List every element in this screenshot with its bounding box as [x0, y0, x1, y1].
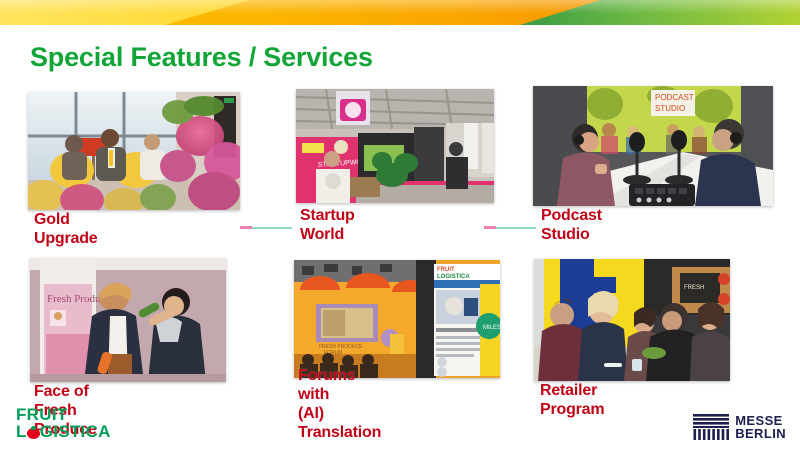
photo-startup-world: STARTUPWORLD	[296, 89, 494, 203]
feature-label-podcast-studio: Podcast Studio	[541, 206, 602, 244]
logistica-suffix: GISTICA	[40, 422, 111, 441]
svg-text:LOGISTICA: LOGISTICA	[437, 274, 470, 280]
divider-row1-right	[484, 226, 536, 229]
svg-text:FRUIT: FRUIT	[437, 267, 455, 273]
feature-label-forums-translation: Forums with (AI) Translation	[298, 366, 381, 442]
messe-berlin-logo: MESSE BERLIN	[693, 414, 786, 440]
divider-pink-segment	[484, 226, 496, 229]
svg-text:MILES: MILES	[483, 325, 500, 331]
photo-podcast-studio: PODCAST STUDIO	[533, 86, 773, 206]
top-gradient-banner	[0, 0, 800, 25]
fruit-logistica-line2: LGISTICA	[16, 423, 111, 440]
page-title: Special Features / Services	[30, 42, 373, 73]
feature-label-startup-world: Startup World	[300, 206, 355, 244]
divider-pink-segment	[240, 226, 252, 229]
fruit-logistica-line1: FRUIT	[16, 406, 111, 423]
feature-label-retailer-program: Retailer Program	[540, 381, 604, 419]
logistica-prefix: L	[16, 422, 27, 441]
tomato-icon	[27, 426, 40, 439]
photo-forums-translation: FRESH PRODUCE FORUM FRUIT LOGISTICA	[294, 260, 500, 378]
feature-label-gold-upgrade: Gold Upgrade	[34, 210, 98, 248]
svg-text:FRESH: FRESH	[684, 285, 704, 291]
divider-mint-segment	[252, 227, 292, 229]
photo-gold-upgrade	[28, 92, 240, 210]
divider-row1-left	[240, 226, 292, 229]
fruit-logistica-logo: FRUIT LGISTICA	[16, 406, 111, 440]
svg-text:PODCAST: PODCAST	[655, 93, 694, 102]
photo-retailer-program: FRESH	[534, 259, 730, 381]
divider-mint-segment	[496, 227, 536, 229]
photo-face-of-fresh-produce: Fresh Produce	[30, 258, 226, 382]
messe-berlin-line2: BERLIN	[735, 427, 786, 440]
messe-berlin-wordmark: MESSE BERLIN	[735, 414, 786, 440]
svg-text:STUDIO: STUDIO	[655, 104, 685, 113]
messe-berlin-columns-icon	[693, 414, 729, 440]
